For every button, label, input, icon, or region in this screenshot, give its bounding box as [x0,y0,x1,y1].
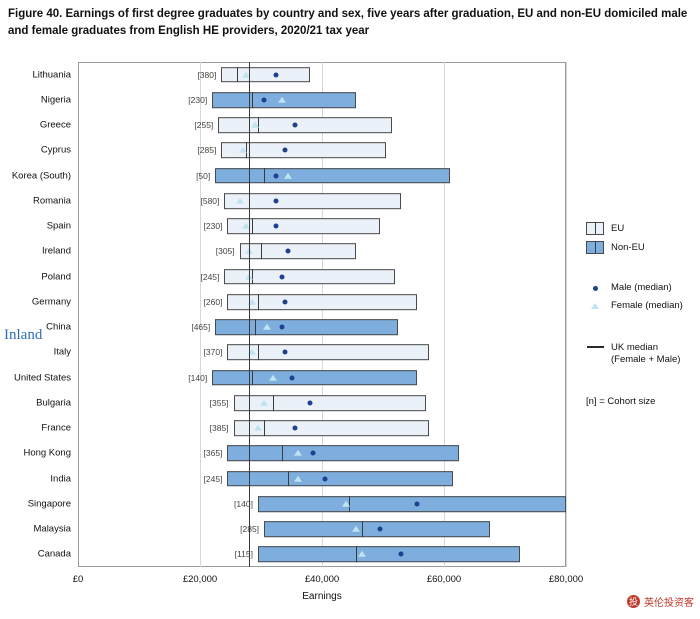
box-korea-south- [215,168,450,184]
cohort-size: [245] [204,474,226,484]
cohort-size: [355] [210,398,232,408]
male-median-marker [283,148,288,153]
cohort-size: [245] [200,272,222,282]
female-median-marker [294,475,302,481]
median-line [252,370,253,386]
male-median-marker [323,476,328,481]
median-line [261,244,262,260]
badge-mark-icon: 投 [627,595,640,608]
box-greece [218,117,392,133]
female-median-marker [251,122,259,128]
legend-item-noneu: Non-EU [586,241,698,254]
cohort-size: [305] [216,246,238,256]
female-triangle-icon [586,303,604,309]
female-median-marker [342,501,350,507]
row-label-greece: Greece [40,120,71,131]
uk-median-line [249,62,251,567]
gridline-60000 [444,62,445,567]
box-lithuania [221,67,309,83]
box-ireland [240,244,356,260]
legend-item-male: Male (median) [586,282,698,294]
cohort-size: [115] [235,549,256,559]
x-axis-title: Earnings [302,591,341,602]
median-line [258,294,259,310]
legend-item-uk-median: UK median (Female + Male) [586,342,698,366]
female-median-marker [278,97,286,103]
eu-box-icon [586,222,604,235]
legend-label-female: Female (median) [611,300,683,312]
row-label-lithuania: Lithuania [32,69,71,80]
female-median-marker [352,526,360,532]
legend-cohort-note: [n] = Cohort size [586,396,698,407]
male-median-marker [307,400,312,405]
female-median-marker [236,198,244,204]
row-label-korea-south-: Korea (South) [12,170,71,181]
gridline-80000 [566,62,567,567]
row-label-china: China [46,322,71,333]
median-line [264,420,265,436]
median-line [264,168,265,184]
cohort-size: [255] [194,120,216,130]
male-median-marker [262,97,267,102]
male-median-marker [280,274,285,279]
legend-item-female: Female (median) [586,300,698,312]
row-label-germany: Germany [32,296,71,307]
row-label-hong-kong: Hong Kong [23,448,71,459]
legend-label-noneu: Non-EU [611,242,645,254]
cohort-size: [230] [188,95,210,105]
x-tick-label-20000: £20,000 [183,574,217,585]
male-median-marker [283,350,288,355]
x-tick-label-40000: £40,000 [305,574,339,585]
female-median-marker [239,147,247,153]
x-tick-label-0: £0 [73,574,84,585]
cohort-size: [580] [200,196,222,206]
male-median-marker [274,198,279,203]
female-median-marker [263,324,271,330]
box-united-states [212,370,416,386]
watermark-badge: 投 英伦投资客 [627,594,694,609]
female-median-marker [269,374,277,380]
uk-median-line2: (Female + Male) [611,354,680,365]
median-line [273,395,274,411]
row-label-ireland: Ireland [42,246,71,257]
row-label-malaysia: Malaysia [34,524,72,535]
row-label-italy: Italy [54,347,71,358]
male-median-marker [292,426,297,431]
female-median-marker [284,172,292,178]
row-label-united-states: United States [14,372,71,383]
box-romania [224,193,401,209]
gridline-40000 [322,62,323,567]
male-dot-icon [586,286,604,291]
cohort-size: [140] [188,373,210,383]
median-line [252,92,253,108]
row-label-romania: Romania [33,195,71,206]
median-line [252,218,253,234]
gridline-20000 [200,62,201,567]
uk-median-line-icon [586,342,604,348]
legend-label-uk-median: UK median (Female + Male) [611,342,680,366]
x-tick-label-80000: £80,000 [549,574,583,585]
box-france [234,420,429,436]
watermark-inland: Inland [4,327,42,344]
median-line [258,345,259,361]
female-median-marker [358,551,366,557]
row-label-india: India [50,473,71,484]
row-label-poland: Poland [41,271,71,282]
row-label-singapore: Singapore [28,498,71,509]
noneu-box-icon [586,241,604,254]
row-label-france: France [41,423,71,434]
box-singapore [258,496,566,512]
chart-plot-area: Lithuania[380]Nigeria[230]Greece[255]Cyp… [78,62,566,567]
male-median-marker [286,249,291,254]
male-median-marker [289,375,294,380]
cohort-size: [465] [191,322,213,332]
median-line [255,319,256,335]
row-label-bulgaria: Bulgaria [36,397,71,408]
row-label-nigeria: Nigeria [41,94,71,105]
box-india [227,471,453,487]
median-line [282,446,283,462]
legend-label-male: Male (median) [611,282,672,294]
male-median-marker [283,299,288,304]
cohort-size: [50] [196,171,213,181]
cohort-size: [260] [204,297,226,307]
male-median-marker [280,325,285,330]
male-median-marker [274,173,279,178]
box-canada [258,547,520,563]
median-line [288,471,289,487]
male-median-marker [274,72,279,77]
row-label-spain: Spain [47,221,71,232]
male-median-marker [274,224,279,229]
figure-title: Figure 40. Earnings of first degree grad… [8,6,692,40]
cohort-size: [370] [204,347,226,357]
legend-item-eu: EU [586,222,698,235]
cohort-size: [140] [234,499,256,509]
median-line [237,67,238,83]
cohort-size: [385] [210,423,232,433]
median-line [362,521,363,537]
box-hong-kong [227,446,459,462]
female-median-marker [254,425,262,431]
cohort-size: [285] [240,524,262,534]
female-median-marker [260,400,268,406]
x-tick-label-60000: £60,000 [427,574,461,585]
box-china [215,319,398,335]
uk-median-line1: UK median [611,342,658,353]
female-median-marker [294,450,302,456]
row-label-canada: Canada [38,549,71,560]
male-median-marker [292,123,297,128]
cohort-size: [285] [197,145,219,155]
chart-legend: EU Non-EU Male (median) Female (median) … [586,222,698,407]
median-line [356,547,357,563]
male-median-marker [310,451,315,456]
cohort-size: [230] [204,221,226,231]
legend-label-eu: EU [611,223,624,235]
row-label-cyprus: Cyprus [41,145,71,156]
male-median-marker [399,552,404,557]
cohort-size: [380] [197,70,219,80]
cohort-size: [365] [204,448,226,458]
male-median-marker [414,501,419,506]
badge-text: 英伦投资客 [644,594,694,609]
male-median-marker [377,527,382,532]
